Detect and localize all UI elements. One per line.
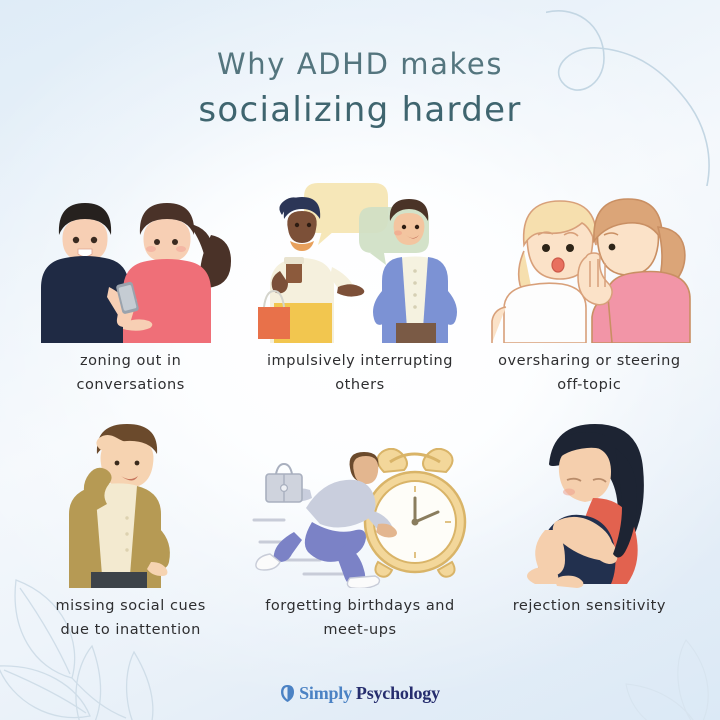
caption-rejection: rejection sensitivity [513, 595, 666, 619]
reasons-grid: zoning out in conversations [18, 175, 702, 660]
grid-item-oversharing: oversharing or steering off-topic [477, 175, 702, 415]
illustration-two-teens-one-on-phone [18, 175, 243, 343]
title-line-2: socializing harder [0, 88, 720, 134]
caption-line-2: off-topic [498, 374, 681, 398]
grid-item-zoning-out: zoning out in conversations [18, 175, 243, 415]
infographic-poster: Why ADHD makes socializing harder [0, 0, 720, 720]
grid-item-interrupting: impulsively interrupting others [247, 175, 472, 415]
caption-line-2: due to inattention [55, 619, 205, 643]
caption-line-2: others [267, 374, 453, 398]
caption-line-2: conversations [76, 374, 184, 398]
grid-item-missing-cues: missing social cues due to inattention [18, 420, 243, 660]
caption-forgetting: forgetting birthdays and meet-ups [265, 595, 455, 643]
caption-line-1: missing social cues [55, 595, 205, 619]
brand-name-simply: Simply [299, 683, 352, 704]
caption-zoning-out: zoning out in conversations [76, 350, 184, 398]
grid-item-rejection: rejection sensitivity [477, 420, 702, 660]
caption-oversharing: oversharing or steering off-topic [498, 350, 681, 398]
caption-line-1: rejection sensitivity [513, 595, 666, 619]
grid-item-forgetting: forgetting birthdays and meet-ups [247, 420, 472, 660]
illustration-man-running-with-briefcase-and-alarm-clock [247, 420, 472, 588]
caption-missing-cues: missing social cues due to inattention [55, 595, 205, 643]
illustration-man-facepalming [18, 420, 243, 588]
caption-line-1: oversharing or steering [498, 350, 681, 374]
illustration-two-people-talking-speech-bubbles [247, 175, 472, 343]
simply-psychology-mark-icon [280, 684, 295, 703]
caption-line-1: forgetting birthdays and [265, 595, 455, 619]
title-line-1: Why ADHD makes [0, 48, 720, 81]
caption-interrupting: impulsively interrupting others [267, 350, 453, 398]
caption-line-1: impulsively interrupting [267, 350, 453, 374]
caption-line-1: zoning out in [76, 350, 184, 374]
brand-name-psychology: Psychology [356, 683, 440, 704]
illustration-girl-hugging-knees-sad [477, 420, 702, 588]
caption-line-2: meet-ups [265, 619, 455, 643]
brand-logo[interactable]: SimplyPsychology [0, 683, 720, 704]
illustration-woman-whispering-to-surprised-friend [477, 175, 702, 343]
page-title: Why ADHD makes socializing harder [0, 48, 720, 134]
